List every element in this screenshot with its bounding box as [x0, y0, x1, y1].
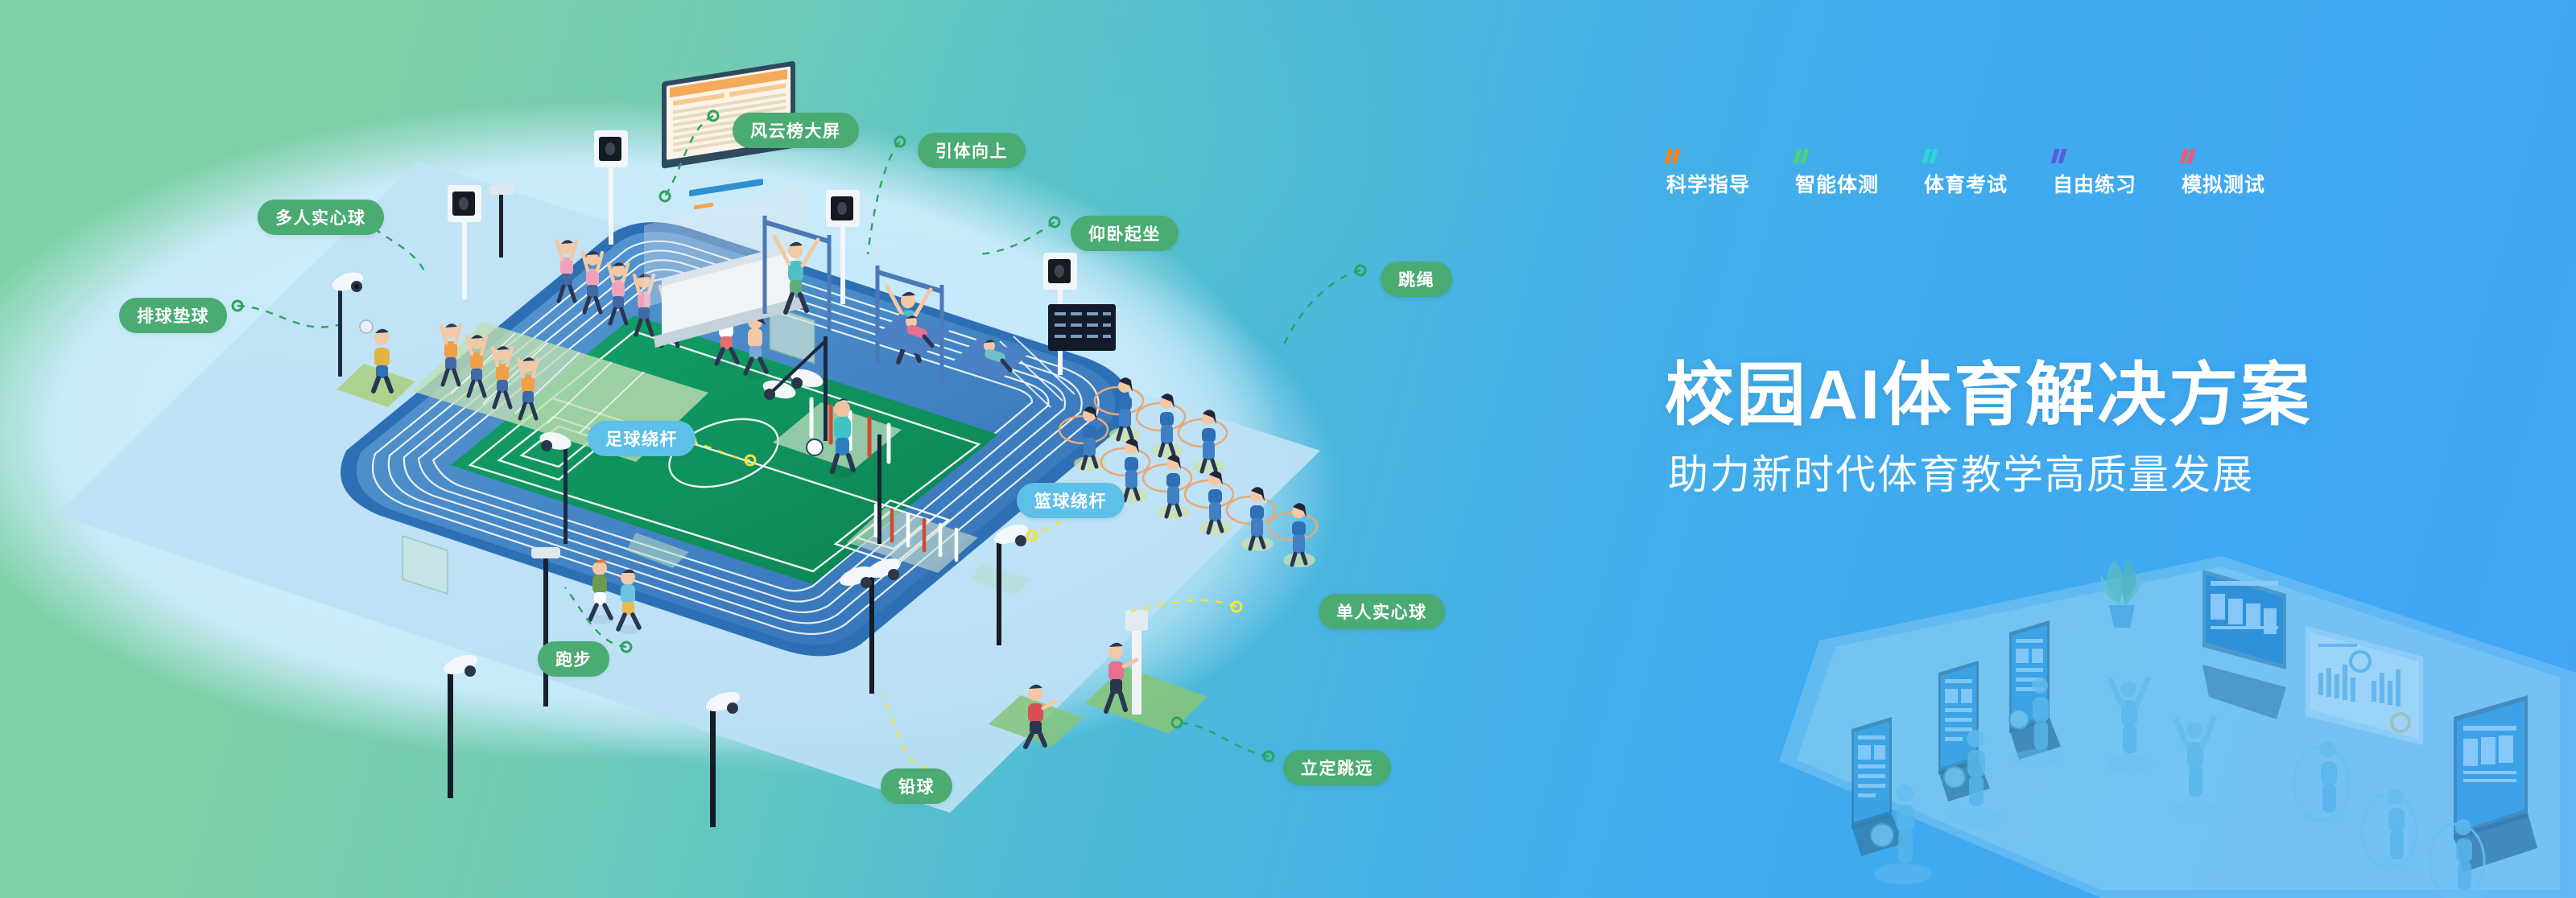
camera-pole: [441, 651, 480, 798]
double-slash-icon: [2182, 149, 2201, 163]
hotspot-label-long-jump[interactable]: 立定跳远: [1283, 750, 1391, 785]
page-title: 校园AI体育解决方案: [1665, 338, 2312, 439]
page-subtitle: 助力新时代体育教学高质量发展: [1668, 443, 2254, 500]
hotspot-label-multi-solid-ball[interactable]: 多人实心球: [258, 200, 384, 235]
feature-tag-smart-fitness-test[interactable]: 智能体测: [1795, 149, 1924, 198]
hotspot-label-situp[interactable]: 仰卧起坐: [1071, 216, 1179, 251]
feature-tag-label: 模拟测试: [2182, 169, 2265, 198]
feature-tag-label: 自由练习: [2053, 169, 2136, 198]
double-slash-icon: [1795, 149, 1814, 163]
wall-dashboard-screen: [2202, 570, 2286, 719]
double-slash-icon: [2053, 149, 2072, 163]
leaderboard-screen: [644, 61, 805, 348]
feature-tag-free-practice[interactable]: 自由练习: [2053, 149, 2182, 198]
indoor-gym-illustration: [1723, 552, 2576, 898]
hotspot-label-jump-rope[interactable]: 跳绳: [1381, 262, 1452, 297]
hero-banner: 排球垫球 多人实心球 风云榜大屏 引体向上 仰卧起坐 跳绳 足球绕杆 篮球绕杆 …: [0, 0, 2576, 898]
feature-tag-pe-exam[interactable]: 体育考试: [1924, 149, 2053, 198]
feature-tag-mock-test[interactable]: 模拟测试: [2182, 149, 2310, 198]
hotspot-label-basketball-slalom[interactable]: 篮球绕杆: [1017, 483, 1125, 518]
double-slash-icon: [1924, 149, 1943, 163]
feature-tag-list: 科学指导 智能体测 体育考试 自由练习: [1666, 149, 2310, 198]
hotspot-label-running[interactable]: 跑步: [538, 641, 609, 677]
hotspot-label-pullup[interactable]: 引体向上: [918, 133, 1026, 168]
feature-tag-label: 体育考试: [1924, 169, 2008, 198]
hotspot-label-leaderboard[interactable]: 风云榜大屏: [733, 113, 859, 148]
hotspot-label-volleyball[interactable]: 排球垫球: [119, 298, 227, 333]
feature-tag-label: 智能体测: [1795, 169, 1879, 198]
light-pole: [877, 435, 881, 544]
hotspot-label-shot-put[interactable]: 铅球: [881, 768, 952, 804]
gym-svg: [1723, 552, 2576, 898]
double-slash-icon: [1666, 149, 1686, 163]
sports-field-illustration: 排球垫球 多人实心球 风云榜大屏 引体向上 仰卧起坐 跳绳 足球绕杆 篮球绕杆 …: [0, 0, 1594, 898]
camera-pole: [704, 688, 742, 827]
feature-tag-label: 科学指导: [1666, 169, 1750, 198]
hotspot-label-single-solid-ball[interactable]: 单人实心球: [1319, 594, 1445, 629]
feature-tag-scientific-guidance[interactable]: 科学指导: [1666, 149, 1795, 198]
hotspot-label-football-slalom[interactable]: 足球绕杆: [588, 421, 696, 456]
